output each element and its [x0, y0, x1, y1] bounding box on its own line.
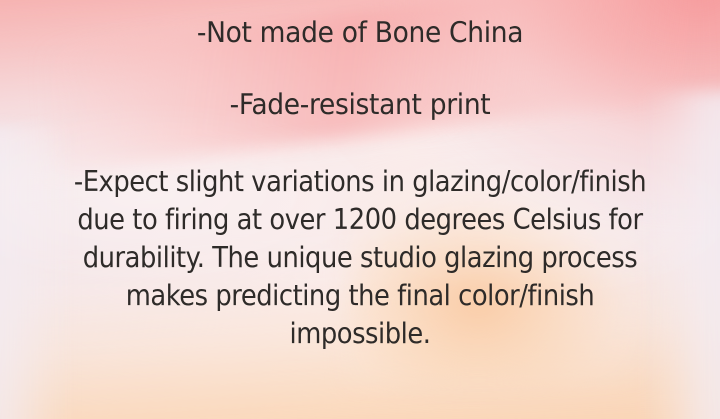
paragraph-line: durability. The unique studio glazing pr…: [41, 239, 678, 277]
paragraph-line: impossible.: [41, 315, 678, 353]
paragraph-line: makes predicting the final color/finish: [41, 277, 678, 315]
paragraph-line: due to firing at over 1200 degrees Celsi…: [41, 201, 678, 239]
care-notice-content: -Not made of Bone China -Fade-resistant …: [0, 0, 720, 419]
care-notice-bone-china: -Not made of Bone China: [25, 16, 695, 49]
care-notice-fade-resistant: -Fade-resistant print: [25, 88, 695, 121]
care-notice-glazing-variation: -Expect slight variations in glazing/col…: [41, 163, 678, 353]
product-care-card: -Not made of Bone China -Fade-resistant …: [0, 0, 720, 419]
paragraph-line: -Expect slight variations in glazing/col…: [41, 163, 678, 201]
